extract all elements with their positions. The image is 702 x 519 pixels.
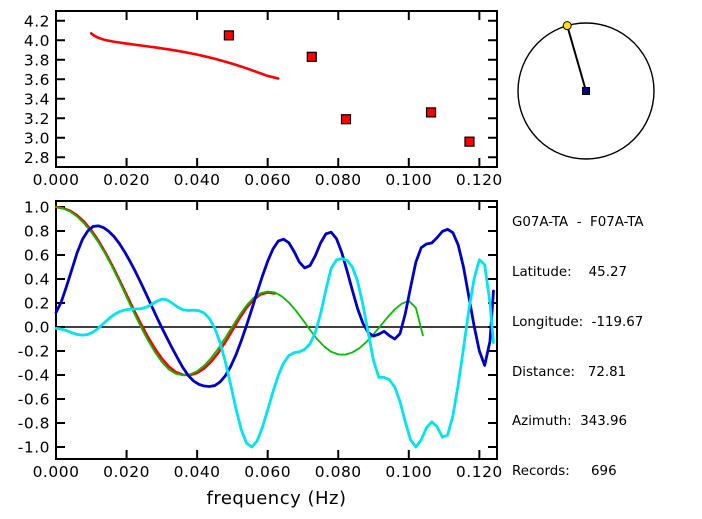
bottom-panel-xticklabel-2: 0.040 xyxy=(174,463,221,481)
paired-station-marker xyxy=(563,22,571,30)
top-panel-yticklabel-6: 4.0 xyxy=(24,32,50,50)
bottom-panel-yticklabel-10: 1.0 xyxy=(24,199,50,217)
bottom-panel-xaxis-title: frequency (Hz) xyxy=(206,488,346,509)
top-panel-yticklabel-5: 3.8 xyxy=(24,51,50,69)
bottom-panel-frame xyxy=(56,201,497,459)
bottom-panel-yticklabel-9: 0.8 xyxy=(24,223,50,241)
latitude-row: Latitude: 45.27 xyxy=(512,265,702,282)
longitude-row: Longitude: -119.67 xyxy=(512,315,702,332)
top-panel-yticklabel-3: 3.4 xyxy=(24,90,50,108)
bottom-panel-xticklabel-5: 0.100 xyxy=(385,463,432,481)
bottom-panel-xticklabel-1: 0.020 xyxy=(103,463,150,481)
reference-station-marker xyxy=(583,88,590,95)
top-panel-yticklabel-2: 3.2 xyxy=(24,110,50,128)
top-panel-xticklabel-5: 0.100 xyxy=(385,171,432,189)
bottom-panel-xticklabel-6: 0.120 xyxy=(456,463,503,481)
azimuth-row: Azimuth: 343.96 xyxy=(512,414,702,431)
bottom-panel-xticklabel-0: 0.000 xyxy=(33,463,80,481)
bottom-panel-yticklabel-3: -0.4 xyxy=(18,367,50,385)
azimuth-ray-line xyxy=(567,26,586,91)
top-panel-frame xyxy=(56,11,497,167)
bottom-panel-yticklabel-7: 0.4 xyxy=(24,271,50,289)
top-panel-yticklabel-4: 3.6 xyxy=(24,71,50,89)
records-row: Records: 696 xyxy=(512,464,702,481)
bottom-panel-yticklabel-8: 0.6 xyxy=(24,247,50,265)
figure-root: 0.0000.0200.0400.0600.0800.1000.1202.83.… xyxy=(0,0,702,519)
bottom-panel-xticklabel-3: 0.060 xyxy=(244,463,291,481)
bottom-panel-yticklabel-0: -1.0 xyxy=(18,439,50,457)
station-pair-title: G07A-TA - F07A-TA xyxy=(512,215,702,232)
top-panel-xticklabel-6: 0.120 xyxy=(456,171,503,189)
top-panel-xticklabel-1: 0.020 xyxy=(103,171,150,189)
top-panel-series-dispersion-curve xyxy=(91,33,278,78)
top-panel-xticklabel-4: 0.080 xyxy=(315,171,362,189)
bottom-panel-yticklabel-5: 0.0 xyxy=(24,319,50,337)
bottom-panel-series-blue-waveform xyxy=(56,226,493,387)
bottom-panel-yticklabel-1: -0.8 xyxy=(18,415,50,433)
bottom-panel-yticklabel-2: -0.6 xyxy=(18,391,50,409)
distance-row: Distance: 72.81 xyxy=(512,365,702,382)
top-panel-xticklabel-2: 0.040 xyxy=(174,171,221,189)
station-info-panel: G07A-TA - F07A-TA Latitude: 45.27 Longit… xyxy=(512,182,702,514)
top-panel-xticklabel-3: 0.060 xyxy=(244,171,291,189)
top-panel-yticklabel-7: 4.2 xyxy=(24,12,50,30)
bottom-panel-yticklabel-6: 0.2 xyxy=(24,295,50,313)
top-panel-xticklabel-0: 0.000 xyxy=(33,171,80,189)
bottom-panel-yticklabel-4: -0.2 xyxy=(18,343,50,361)
bottom-panel-series-red-waveform xyxy=(56,207,275,375)
top-panel-marker-2 xyxy=(342,115,351,124)
top-panel-yticklabel-1: 3.0 xyxy=(24,129,50,147)
top-panel-marker-1 xyxy=(307,52,316,61)
top-panel-marker-0 xyxy=(224,31,233,40)
bottom-panel-xticklabel-4: 0.080 xyxy=(315,463,362,481)
top-panel-marker-4 xyxy=(465,137,474,146)
top-panel-marker-3 xyxy=(427,108,436,117)
top-panel-yticklabel-0: 2.8 xyxy=(24,149,50,167)
